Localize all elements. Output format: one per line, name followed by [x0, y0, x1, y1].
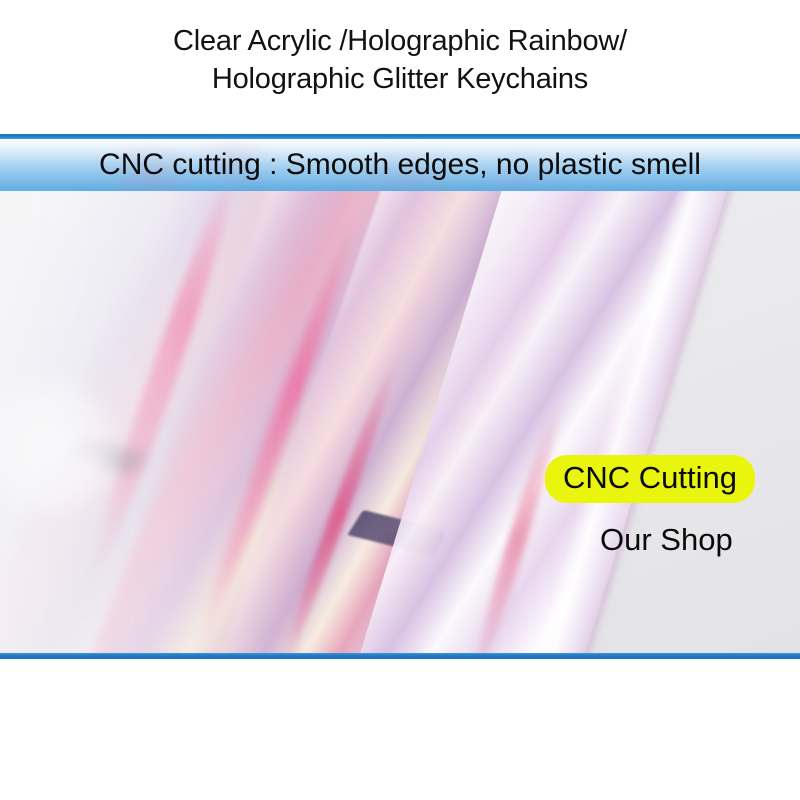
product-infographic: Clear Acrylic /Holographic Rainbow/ Holo… [0, 0, 800, 800]
product-photo: CNC Cutting Our Shop Laser Cutting Other… [0, 191, 800, 653]
page-title-line-2: Holographic Glitter Keychains [14, 60, 786, 98]
banner-text: CNC cutting : Smooth edges, no plastic s… [0, 139, 800, 191]
page-title: Clear Acrylic /Holographic Rainbow/ Holo… [0, 22, 800, 98]
page-title-line-1: Clear Acrylic /Holographic Rainbow/ [14, 22, 786, 60]
photo-defocus-veil [0, 191, 300, 653]
footer-whitespace [0, 659, 800, 800]
cnc-cutting-badge: CNC Cutting [545, 455, 755, 503]
cnc-cutting-caption: Our Shop [600, 522, 733, 558]
feature-banner: CNC cutting : Smooth edges, no plastic s… [0, 134, 800, 191]
